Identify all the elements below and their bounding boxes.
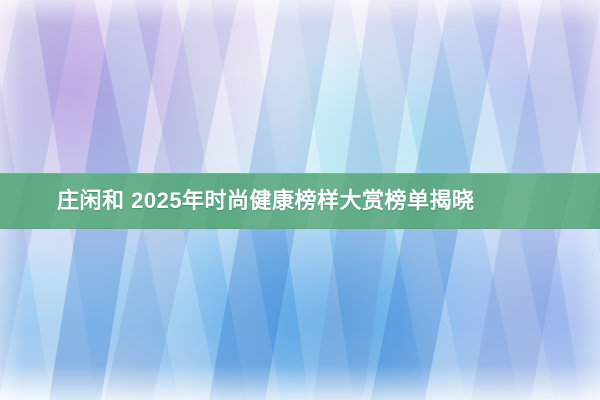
bottom-highlight [0,366,600,400]
headline-title: 庄闲和 2025年时尚健康榜样大赏榜单揭晓 [57,190,475,212]
top-highlight [0,0,600,26]
headline-band: 庄闲和 2025年时尚健康榜样大赏榜单揭晓 [0,173,600,229]
banner-image: 庄闲和 2025年时尚健康榜样大赏榜单揭晓 [0,0,600,400]
